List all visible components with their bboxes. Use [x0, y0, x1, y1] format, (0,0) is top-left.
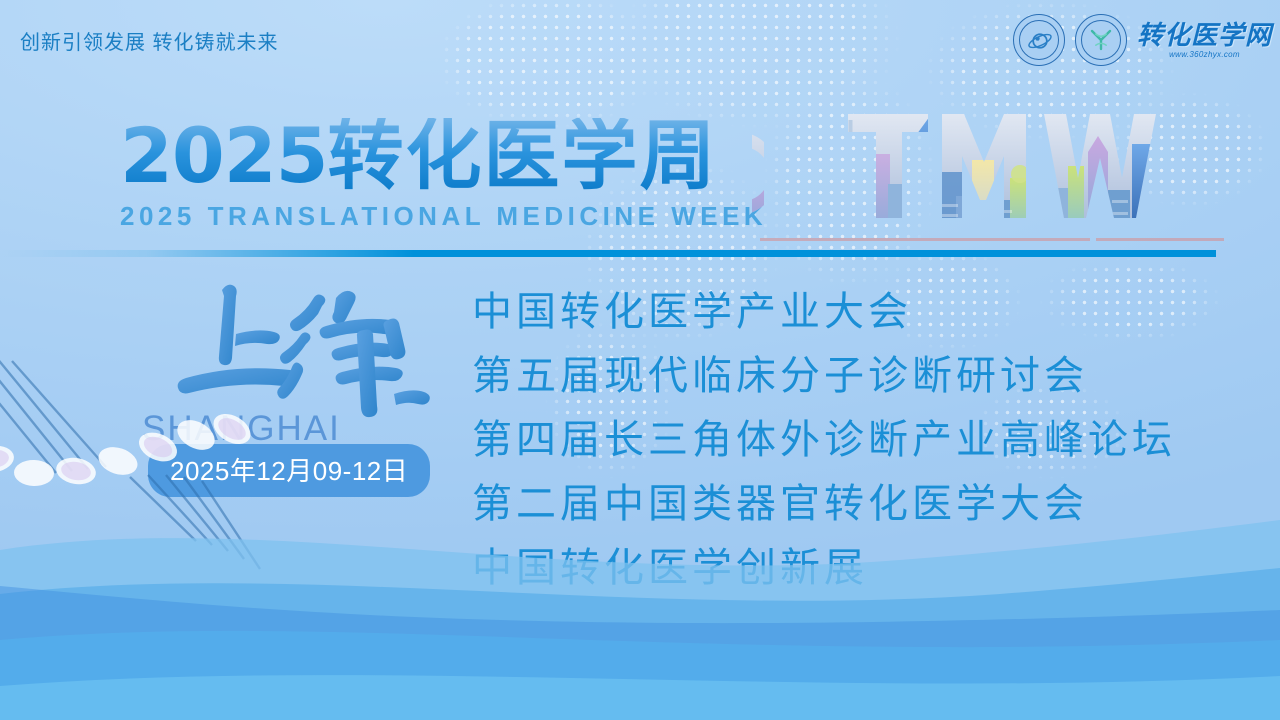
event-list-item: 中国转化医学创新展 [472, 536, 1176, 600]
event-list-item: 第四届长三角体外诊断产业高峰论坛 [472, 408, 1176, 472]
poster-subtitle: 2025 TRANSLATIONAL MEDICINE WEEK [120, 201, 767, 232]
poster-canvas: 创新引领发展 转化铸就未来 转化医学网 www.360zhyx.com 2025… [0, 0, 1280, 720]
xy-institute-seal-icon [1075, 14, 1127, 66]
poster-tagline: 创新引领发展 转化铸就未来 [20, 26, 279, 55]
brand-url: www.360zhyx.com [1169, 50, 1240, 59]
city-name-en: SHANGHAI [142, 409, 341, 449]
conference-seal-icon [1013, 14, 1065, 66]
brand-name: 转化医学网 [1137, 22, 1272, 48]
title-block: 2025转化医学周 2025 TRANSLATIONAL MEDICINE WE… [120, 118, 767, 232]
poster-title: 2025转化医学周 [120, 118, 767, 195]
logo-strip: 转化医学网 www.360zhyx.com [1013, 14, 1272, 66]
event-list-item: 第五届现代临床分子诊断研讨会 [472, 344, 1176, 408]
brand-logo[interactable]: 转化医学网 www.360zhyx.com [1137, 22, 1272, 59]
title-year: 2025 [120, 111, 328, 200]
event-list-item: 第二届中国类器官转化医学大会 [472, 472, 1176, 536]
event-list-item: 中国转化医学产业大会 [472, 280, 1176, 344]
skyline-ctmw-graphic [752, 100, 1230, 245]
event-date-badge: 2025年12月09-12日 [148, 444, 430, 497]
shanghai-calligraphy-block: SHANGHAI [150, 268, 460, 443]
title-cn: 转化医学周 [328, 114, 718, 199]
header-divider [0, 250, 1216, 257]
event-list: 中国转化医学产业大会 第五届现代临床分子诊断研讨会 第四届长三角体外诊断产业高峰… [472, 280, 1176, 600]
